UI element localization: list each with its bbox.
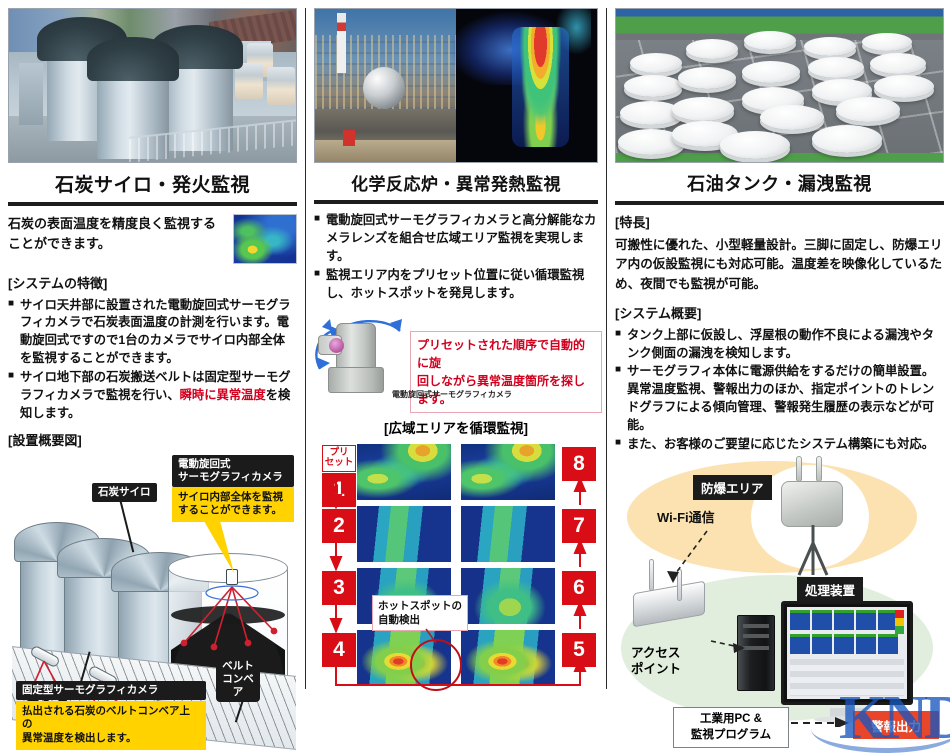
features-heading: [システムの特徴] — [8, 274, 297, 294]
photo-tank — [630, 53, 682, 73]
photo-tank — [862, 33, 912, 51]
photo-red-marker — [343, 130, 355, 146]
installation-diagram: 石炭サイロ 電動旋回式 サーモグラフィカメラ サイロ内部全体を監視 することがで… — [8, 453, 297, 745]
merit-heading: [特長] — [615, 213, 944, 233]
column-oil-tank: 石油タンク・漏洩監視 [特長] 可搬性に優れた、小型軽量設計。三脚に固定し、防爆… — [607, 0, 950, 697]
photo-tank — [836, 97, 900, 122]
features-list: サイロ天井部に設置された電動旋回式サーモグラフィカメラで石炭表面温度の計測を行い… — [8, 297, 297, 424]
callout-text-line1: ベルト — [222, 660, 254, 673]
chemical-plant-and-thermal-photo — [314, 8, 598, 163]
oil-tank-farm-photo — [615, 8, 944, 163]
column-body: 電動旋回式サーモグラフィカメラと高分解能なカメラレンズを組合せ広域エリア監視を実… — [314, 212, 598, 303]
merit-text: 可搬性に優れた、小型軽量設計。三脚に固定し、防爆エリア内の仮設監視にも対応可能。… — [615, 236, 944, 295]
rotary-camera-illustration: プリセットされた順序で自動的に旋 回しながら異常温度箇所を探します。 電動旋回式… — [314, 309, 598, 415]
photo-tank — [804, 37, 856, 56]
pc-software-box: 工業用PC & 監視プログラム — [673, 707, 789, 748]
feature-text-highlight: 瞬時に異常温度 — [180, 388, 266, 402]
coal-silo-plant-photo — [8, 8, 297, 163]
list-item: タンク上部に仮設し、浮屋根の動作不良による漏洩やタンク側面の漏洩を検知します。 — [615, 327, 944, 363]
photo-stack — [337, 13, 346, 73]
column-body: [特長] 可搬性に優れた、小型軽量設計。三脚に固定し、防爆エリア内の仮設監視にも… — [615, 213, 944, 454]
list-item: また、お客様のご要望に応じたシステム構築にも対応。 — [615, 436, 944, 454]
thermal-hot-vessel — [512, 27, 568, 146]
camera-caption: プリセットされた順序で自動的に旋 回しながら異常温度箇所を探します。 — [410, 331, 602, 413]
section-title: 化学反応炉・異常発熱監視 — [314, 163, 598, 200]
photo-small-tank — [267, 67, 295, 105]
photo-tank — [870, 53, 926, 74]
list-item: サーモグラフィ本体に電源供給をするだけの簡単設置。異常温度監視、警報出力のほか、… — [615, 363, 944, 435]
photo-tank — [720, 131, 790, 159]
brochure-page: 石炭サイロ・発火監視 石炭の表面温度を精度良く監視することができます。 [システ… — [0, 0, 950, 697]
title-rule — [615, 201, 944, 205]
photo-tank — [742, 61, 800, 83]
list-item: サイロ地下部の石炭搬送ベルトは固定型サーモグラフィカメラで監視を行い、瞬時に異常… — [8, 369, 297, 423]
column-coal-silo: 石炭サイロ・発火監視 石炭の表面温度を精度良く監視することができます。 [システ… — [0, 0, 305, 697]
list-item: サイロ天井部に設置された電動旋回式サーモグラフィカメラで石炭表面温度の計測を行い… — [8, 297, 297, 369]
photo-tank — [672, 97, 734, 121]
photo-tank — [760, 105, 824, 130]
section-title: 石炭サイロ・発火監視 — [8, 163, 297, 202]
connection-arrows — [615, 455, 944, 727]
photo-tank — [686, 39, 738, 59]
features-list: 電動旋回式サーモグラフィカメラと高分解能なカメラレンズを組合せ広域エリア監視を実… — [314, 212, 598, 303]
list-item: 電動旋回式サーモグラフィカメラと高分解能なカメラレンズを組合せ広域エリア監視を実… — [314, 212, 598, 266]
thermal-image-thumbnail — [233, 214, 297, 264]
tag-processing-unit: 処理装置 — [797, 577, 863, 602]
grid-heading: [広域エリアを循環監視] — [314, 417, 598, 437]
lead-block: 石炭の表面温度を精度良く監視することができます。 — [8, 214, 297, 264]
camera-base — [328, 367, 384, 393]
system-overview-diagram: 防爆エリア Wi-Fi通信 アク — [615, 455, 944, 727]
callout-fixed-camera-note: 払出される石炭のベルトコンベア上の 異常温度を検出します。 — [16, 701, 206, 750]
callout-text: 固定型サーモグラフィカメラ — [22, 684, 158, 696]
system-heading: [システム概要] — [615, 304, 944, 324]
callout-text-line2: 異常温度を検出します。 — [22, 732, 200, 746]
photo-tank — [808, 57, 864, 78]
lead-text: 石炭の表面温度を精度良く監視することができます。 — [8, 214, 225, 254]
callout-text-line1: 払出される石炭のベルトコンベア上の — [22, 705, 200, 732]
list-item: 監視エリア内をプリセット位置に従い循環監視し、ホットスポットを発見します。 — [314, 267, 598, 303]
plant-photo-half — [315, 9, 456, 162]
photo-tank — [874, 75, 934, 98]
photo-tank — [678, 67, 736, 89]
hotspot-leader — [314, 443, 603, 691]
box-line1: 工業用PC & — [681, 712, 781, 728]
preset-cycle-grid: プリ セット 1 2 3 4 5 6 7 8 ホットスポットの 自動検出 — [314, 443, 603, 691]
column-chemical-reactor: 化学反応炉・異常発熱監視 電動旋回式サーモグラフィカメラと高分解能なカメラレンズ… — [306, 0, 606, 697]
photo-tank — [624, 75, 682, 97]
photo-building — [19, 63, 43, 125]
title-rule — [314, 200, 598, 204]
alarm-output-box: 警報出力 — [853, 711, 939, 739]
callout-belt-label: ベルト コンベア — [216, 657, 260, 702]
photo-tank — [812, 125, 882, 153]
title-rule — [8, 202, 297, 206]
photo-ground — [315, 140, 456, 162]
callout-text-line2: コンベア — [222, 673, 254, 699]
box-line2: 監視プログラム — [681, 728, 781, 744]
system-list: タンク上部に仮設し、浮屋根の動作不良による漏洩やタンク側面の漏洩を検知します。 … — [615, 327, 944, 455]
thermal-photo-half — [456, 9, 597, 162]
photo-spherical-tank — [363, 67, 405, 109]
section-title: 石油タンク・漏洩監視 — [615, 163, 944, 201]
photo-tank — [744, 31, 796, 50]
camera-sublabel: 電動旋回式サーモグラフィカメラ — [392, 389, 512, 400]
diagram-heading: [設置概要図] — [8, 431, 297, 451]
caption-line1: プリセットされた順序で自動的に旋 — [417, 336, 595, 372]
camera-lens — [318, 335, 342, 355]
column-body: 石炭の表面温度を精度良く監視することができます。 [システムの特徴] サイロ天井… — [8, 214, 297, 451]
